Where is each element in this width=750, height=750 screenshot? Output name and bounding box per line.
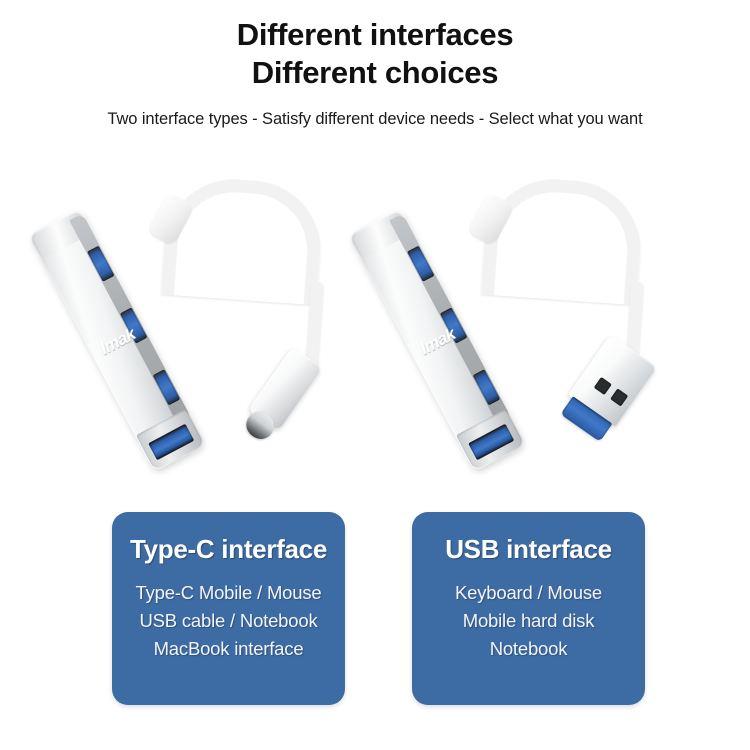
caption-line: Keyboard / Mouse <box>412 579 645 607</box>
usb-a-port-icon <box>148 424 194 460</box>
product-image-usb-hub: Imak <box>380 172 710 502</box>
page-header: Different interfaces Different choices <box>0 16 750 92</box>
product-infographic: Different interfaces Different choices T… <box>0 0 750 750</box>
caption-title: Type-C interface <box>112 534 345 565</box>
caption-line: Mobile hard disk <box>412 607 645 635</box>
usb-a-plug-icon <box>537 332 661 470</box>
caption-line: Type-C Mobile / Mouse <box>112 579 345 607</box>
cable-arc <box>481 175 645 306</box>
product-image-type-c-hub: Imak <box>60 172 390 502</box>
caption-title: USB interface <box>412 534 645 565</box>
usb-a-notch <box>610 388 628 406</box>
caption-box-usb: USB interface Keyboard / Mouse Mobile ha… <box>412 512 645 705</box>
usb-c-plug-icon <box>230 345 326 455</box>
subtitle: Two interface types - Satisfy different … <box>0 110 750 129</box>
usb-a-port-icon <box>468 424 514 460</box>
caption-line: USB cable / Notebook <box>112 607 345 635</box>
usb-a-notch <box>594 377 612 395</box>
caption-line: Notebook <box>412 635 645 663</box>
caption-box-type-c: Type-C interface Type-C Mobile / Mouse U… <box>112 512 345 705</box>
headline-line-1: Different interfaces <box>0 16 750 54</box>
cable-arc <box>161 175 325 306</box>
caption-line: MacBook interface <box>112 635 345 663</box>
headline-line-2: Different choices <box>0 54 750 92</box>
